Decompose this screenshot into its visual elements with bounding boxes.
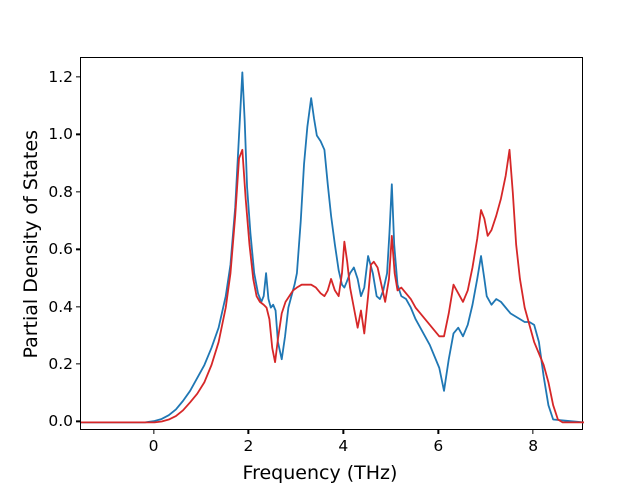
y-tick-label: 1.0 (48, 125, 73, 143)
y-tick-label: 1.2 (48, 68, 73, 86)
x-tick-mark (343, 430, 344, 434)
plot-area (80, 57, 583, 430)
x-tick-label: 8 (528, 437, 538, 455)
x-axis-label: Frequency (THz) (0, 462, 640, 484)
y-tick-label: 0.4 (48, 298, 73, 316)
x-tick-label: 2 (244, 437, 254, 455)
y-tick-mark (76, 421, 80, 422)
y-tick-mark (76, 134, 80, 135)
matplotlib-figure: Partial Density of States 0.00.20.40.60.… (0, 0, 640, 480)
y-tick-mark (76, 363, 80, 364)
series-canvas (81, 58, 584, 431)
x-tick-mark (533, 430, 534, 434)
y-axis-label: Partial Density of States (20, 129, 42, 358)
y-tick-mark (76, 249, 80, 250)
y-tick-label: 0.0 (48, 412, 73, 430)
y-axis-label-container: Partial Density of States (20, 0, 44, 480)
y-tick-label: 0.8 (48, 183, 73, 201)
x-tick-mark (248, 430, 249, 434)
y-tick-mark (76, 191, 80, 192)
data-line-series-1 (81, 72, 584, 422)
y-tick-label: 0.6 (48, 240, 73, 258)
y-tick-mark (76, 76, 80, 77)
x-tick-label: 6 (433, 437, 443, 455)
x-tick-label: 4 (338, 437, 348, 455)
x-tick-label: 0 (149, 437, 159, 455)
y-tick-label: 0.2 (48, 355, 73, 373)
data-line-series-2 (81, 150, 584, 423)
x-tick-mark (438, 430, 439, 434)
x-tick-mark (153, 430, 154, 434)
y-tick-mark (76, 306, 80, 307)
